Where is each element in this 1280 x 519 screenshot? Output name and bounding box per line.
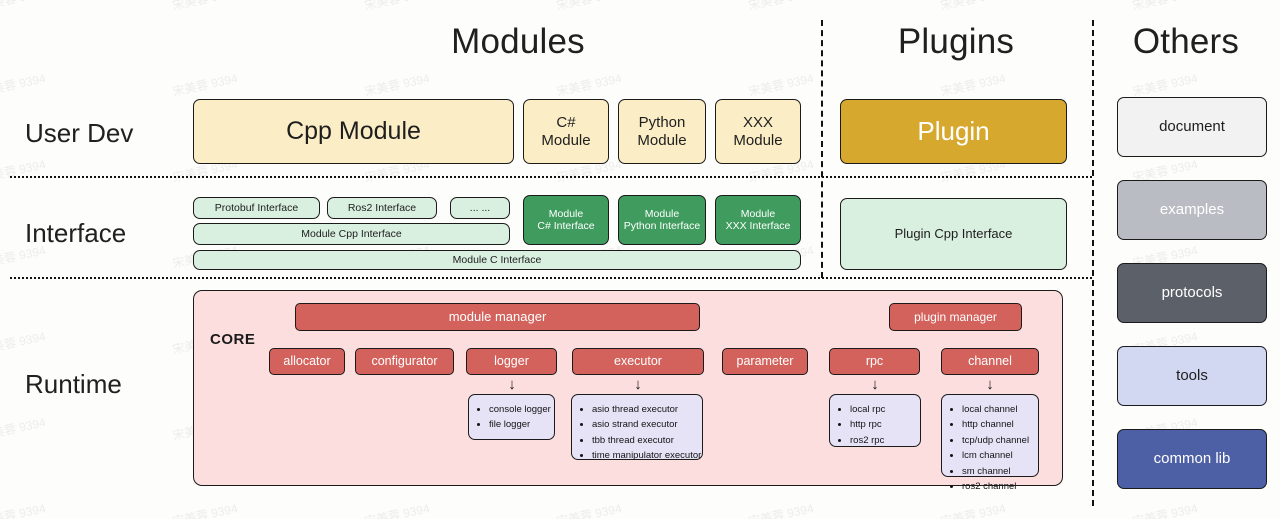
module-box-csharp[interactable]: C# Module [523,99,609,164]
column-title-plugins: Plugins [824,22,1088,62]
watermark-text: 宋美蓉 9394 [1131,69,1199,99]
watermark-text: 宋美蓉 9394 [747,499,815,519]
interface-box-protobuf[interactable]: Protobuf Interface [193,197,320,219]
watermark-text: 宋美蓉 9394 [171,0,239,14]
interface-box-plugin-cpp[interactable]: Plugin Cpp Interface [840,198,1067,270]
watermark-text: 宋美蓉 9394 [939,69,1007,99]
column-title-others: Others [1096,22,1276,62]
watermark-text: 宋美蓉 9394 [171,69,239,99]
others-box-document[interactable]: document [1117,97,1267,157]
core-plugin-manager[interactable]: plugin manager [889,303,1022,331]
logger-detail-items: console loggerfile logger [477,402,548,433]
list-item: time manipulator executor [592,448,696,463]
watermark-text: 宋美蓉 9394 [0,413,47,443]
module-box-xxx[interactable]: XXX Module [715,99,801,164]
core-component-executor[interactable]: executor [572,348,704,375]
arrow-down-rpc-icon: ↓ [867,377,883,391]
list-item: local rpc [850,402,914,417]
watermark-text: 宋美蓉 9394 [1131,499,1199,519]
watermark-text: 宋美蓉 9394 [171,499,239,519]
module-box-cpp[interactable]: Cpp Module [193,99,514,164]
plugin-box[interactable]: Plugin [840,99,1067,164]
channel-detail-list: local channelhttp channeltcp/udp channel… [941,394,1039,477]
watermark-text: 宋美蓉 9394 [363,0,431,14]
others-box-examples[interactable]: examples [1117,180,1267,240]
watermark-text: 宋美蓉 9394 [939,499,1007,519]
core-component-allocator[interactable]: allocator [269,348,345,375]
interface-box-module-csharp[interactable]: Module C# Interface [523,195,609,245]
separator-user-dev-interface [10,176,1092,178]
watermark-text: 宋美蓉 9394 [555,69,623,99]
core-label: CORE [210,331,255,348]
module-box-python[interactable]: Python Module [618,99,706,164]
watermark-text: 宋美蓉 9394 [0,0,47,14]
watermark-text: 宋美蓉 9394 [1131,0,1199,14]
watermark-text: 宋美蓉 9394 [939,0,1007,14]
list-item: tbb thread executor [592,433,696,448]
list-item: asio strand executor [592,417,696,432]
executor-detail-list: asio thread executorasio strand executor… [571,394,703,460]
executor-detail-items: asio thread executorasio strand executor… [580,402,696,464]
arrow-down-channel-icon: ↓ [982,377,998,391]
watermark-text: 宋美蓉 9394 [747,0,815,14]
watermark-text: 宋美蓉 9394 [0,69,47,99]
interface-box-module-c[interactable]: Module C Interface [193,250,801,270]
list-item: tcp/udp channel [962,433,1032,448]
others-box-common-lib[interactable]: common lib [1117,429,1267,489]
arrow-down-executor-icon: ↓ [630,377,646,391]
rpc-detail-list: local rpchttp rpcros2 rpc [829,394,921,447]
list-item: sm channel [962,464,1032,479]
watermark-text: 宋美蓉 9394 [747,69,815,99]
list-item: lcm channel [962,448,1032,463]
list-item: file logger [489,417,548,432]
interface-box-ros2[interactable]: Ros2 Interface [327,197,437,219]
core-component-parameter[interactable]: parameter [722,348,808,375]
watermark-text: 宋美蓉 9394 [0,155,47,185]
rpc-detail-items: local rpchttp rpcros2 rpc [838,402,914,448]
separator-modules-plugins [821,20,823,278]
interface-box-module-python[interactable]: Module Python Interface [618,195,706,245]
interface-box-module-cpp[interactable]: Module Cpp Interface [193,223,510,245]
core-component-rpc[interactable]: rpc [829,348,920,375]
watermark-text: 宋美蓉 9394 [363,499,431,519]
logger-detail-list: console loggerfile logger [468,394,555,440]
separator-interface-runtime [10,277,1092,279]
core-component-configurator[interactable]: configurator [355,348,454,375]
channel-detail-items: local channelhttp channeltcp/udp channel… [950,402,1032,494]
watermark-text: 宋美蓉 9394 [555,0,623,14]
row-label-interface: Interface [25,218,126,249]
row-label-user-dev: User Dev [25,118,133,149]
list-item: asio thread executor [592,402,696,417]
separator-plugins-others [1092,20,1094,506]
others-box-tools[interactable]: tools [1117,346,1267,406]
interface-box-ellipsis[interactable]: ... ... [450,197,510,219]
watermark-text: 宋美蓉 9394 [555,499,623,519]
others-box-protocols[interactable]: protocols [1117,263,1267,323]
list-item: http rpc [850,417,914,432]
list-item: ros2 rpc [850,433,914,448]
row-label-runtime: Runtime [25,369,122,400]
list-item: console logger [489,402,548,417]
core-module-manager[interactable]: module manager [295,303,700,331]
list-item: http channel [962,417,1032,432]
core-component-channel[interactable]: channel [941,348,1039,375]
core-component-logger[interactable]: logger [466,348,557,375]
watermark-text: 宋美蓉 9394 [0,499,47,519]
list-item: local channel [962,402,1032,417]
watermark-text: 宋美蓉 9394 [363,69,431,99]
interface-box-module-xxx[interactable]: Module XXX Interface [715,195,801,245]
watermark-text: 宋美蓉 9394 [0,327,47,357]
list-item: ros2 channel [962,479,1032,494]
column-title-modules: Modules [338,22,698,62]
arrow-down-logger-icon: ↓ [504,377,520,391]
